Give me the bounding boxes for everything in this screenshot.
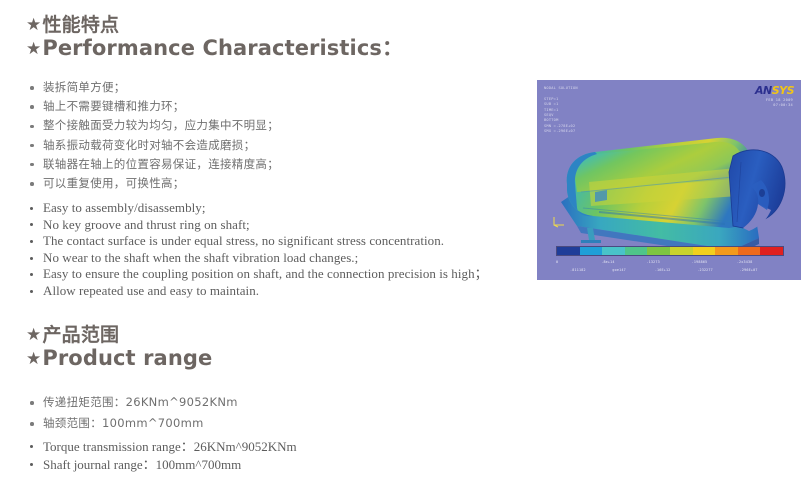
legend-label: .2x3438	[737, 260, 782, 264]
bullet-dot-icon	[30, 144, 34, 148]
list-item: Easy to ensure the coupling position on …	[30, 266, 488, 283]
bullet-dot-icon	[30, 163, 34, 167]
list-item: 可以重复使用，可换性高；	[30, 174, 279, 193]
list-item: Allow repeated use and easy to maintain.	[30, 283, 488, 300]
heading-performance-cn: ★性能特点	[26, 14, 403, 36]
list-item-label: Easy to assembly/disassembly;	[43, 200, 206, 215]
list-item: 联轴器在轴上的位置容易保证，连接精度高；	[30, 155, 279, 174]
list-item: No key groove and thrust ring on shaft;	[30, 217, 488, 234]
list-item-label: Allow repeated use and easy to maintain.	[43, 283, 259, 298]
list-item: No wear to the shaft when the shaft vibr…	[30, 250, 488, 267]
list-item-label: Torque transmission range：26KNm^9052KNm	[43, 439, 297, 454]
fea-legend-labels-bottom: .811182 goe147 .16E+12 .232277 .296E+07	[556, 268, 782, 272]
heading-product-range-en-text: Product range	[42, 346, 212, 370]
legend-label: .811182	[570, 268, 612, 272]
list-item-label: No key groove and thrust ring on shaft;	[43, 217, 250, 232]
bullet-dot-icon	[30, 223, 33, 226]
legend-label: .232277	[697, 268, 739, 272]
list-item: Easy to assembly/disassembly;	[30, 200, 488, 217]
star-icon: ★	[26, 327, 41, 344]
legend-label: .198865	[692, 260, 737, 264]
heading-product-range-cn-text: 产品范围	[42, 324, 119, 346]
star-icon: ★	[26, 41, 41, 58]
list-item-label: 装拆简单方便；	[43, 80, 126, 94]
legend-swatch	[670, 247, 693, 255]
legend-swatch	[580, 247, 603, 255]
bullet-dot-icon	[30, 401, 34, 405]
bullet-dot-icon	[30, 290, 33, 293]
legend-swatch	[715, 247, 738, 255]
section-heading-product-range: ★产品范围 ★Product range	[26, 324, 212, 371]
fea-annotation-text: NODAL SOLUTION STEP=1 SUB =1 TIME=1 SEQV…	[544, 86, 578, 135]
heading-product-range-cn: ★产品范围	[26, 324, 212, 346]
legend-swatch	[647, 247, 670, 255]
legend-label: 0	[556, 260, 601, 264]
legend-swatch	[693, 247, 716, 255]
product-range-bullets-cn: 传递扭矩范围：26KNm^9052KNm 轴颈范围：100mm^700mm	[30, 392, 238, 434]
legend-swatch	[625, 247, 648, 255]
legend-label: goe147	[612, 268, 654, 272]
list-item: 整个接触面受力较为均匀，应力集中不明显；	[30, 116, 279, 135]
list-item-label: 整个接触面受力较为均匀，应力集中不明显；	[43, 118, 279, 132]
heading-performance-cn-text: 性能特点	[42, 14, 119, 36]
section-heading-performance: ★性能特点 ★Performance Characteristics：	[26, 14, 403, 61]
ansys-logo-an: AN	[755, 84, 772, 97]
fea-date-stamp: FEB 18 2009 07:00:34	[766, 98, 793, 108]
bullet-dot-icon	[30, 125, 34, 129]
bullet-dot-icon	[30, 445, 33, 448]
legend-swatch	[738, 247, 761, 255]
legend-swatch	[602, 247, 625, 255]
list-item: 装拆简单方便；	[30, 78, 279, 97]
ansys-logo-sys: SYS	[772, 84, 794, 97]
bullet-dot-icon	[30, 273, 33, 276]
legend-label: .16E+12	[655, 268, 697, 272]
ansys-logo: ANSYS	[755, 85, 794, 96]
bullet-dot-icon	[30, 422, 34, 426]
list-item: 轴系振动载荷变化时对轴不会造成磨损；	[30, 136, 279, 155]
list-item-label: 可以重复使用，可换性高；	[43, 176, 185, 190]
list-item: 传递扭矩范围：26KNm^9052KNm	[30, 392, 238, 413]
document-page: ★性能特点 ★Performance Characteristics： 装拆简单…	[0, 0, 811, 477]
list-item-label: Shaft journal range：100mm^700mm	[43, 457, 241, 472]
bullet-dot-icon	[30, 207, 33, 210]
bullet-dot-icon	[30, 86, 34, 90]
list-item: 轴颈范围：100mm^700mm	[30, 413, 238, 434]
star-icon: ★	[26, 17, 41, 34]
bullet-dot-icon	[30, 240, 33, 243]
list-item-label: Easy to ensure the coupling position on …	[43, 266, 488, 281]
list-item-label: The contact surface is under equal stres…	[43, 233, 444, 248]
bullet-dot-icon	[30, 182, 34, 186]
list-item-label: 传递扭矩范围：26KNm^9052KNm	[43, 395, 238, 409]
heading-performance-en-text: Performance Characteristics：	[42, 36, 403, 60]
legend-swatch	[557, 247, 580, 255]
legend-label: .13273	[646, 260, 691, 264]
legend-label: .8e+14	[601, 260, 646, 264]
list-item: Shaft journal range：100mm^700mm	[30, 456, 297, 474]
bullet-dot-icon	[30, 105, 34, 109]
list-item-label: 联轴器在轴上的位置容易保证，连接精度高；	[43, 157, 279, 171]
legend-label: .296E+07	[740, 268, 782, 272]
list-item-label: 轴颈范围：100mm^700mm	[43, 416, 204, 430]
bullet-dot-icon	[30, 463, 33, 466]
list-item: Torque transmission range：26KNm^9052KNm	[30, 438, 297, 456]
bullet-dot-icon	[30, 257, 33, 260]
list-item-label: 轴系振动载荷变化时对轴不会造成磨损；	[43, 138, 255, 152]
list-item: The contact surface is under equal stres…	[30, 233, 488, 250]
legend-swatch	[760, 247, 783, 255]
list-item-label: No wear to the shaft when the shaft vibr…	[43, 250, 358, 265]
performance-bullets-en: Easy to assembly/disassembly; No key gro…	[30, 200, 488, 300]
heading-product-range-en: ★Product range	[26, 346, 212, 371]
fea-legend-labels-top: 0 .8e+14 .13273 .198865 .2x3438	[556, 260, 782, 264]
product-range-bullets-en: Torque transmission range：26KNm^9052KNm …	[30, 438, 297, 473]
performance-bullets-cn: 装拆简单方便； 轴上不需要键槽和推力环； 整个接触面受力较为均匀，应力集中不明显…	[30, 78, 279, 193]
ansys-fea-figure: NODAL SOLUTION STEP=1 SUB =1 TIME=1 SEQV…	[537, 80, 801, 280]
heading-performance-en: ★Performance Characteristics：	[26, 36, 403, 61]
list-item: 轴上不需要键槽和推力环；	[30, 97, 279, 116]
fea-color-legend	[556, 246, 784, 256]
coordinate-triad-icon	[552, 216, 566, 228]
list-item-label: 轴上不需要键槽和推力环；	[43, 99, 185, 113]
fea-viewport: NODAL SOLUTION STEP=1 SUB =1 TIME=1 SEQV…	[537, 80, 801, 280]
star-icon: ★	[26, 351, 41, 368]
